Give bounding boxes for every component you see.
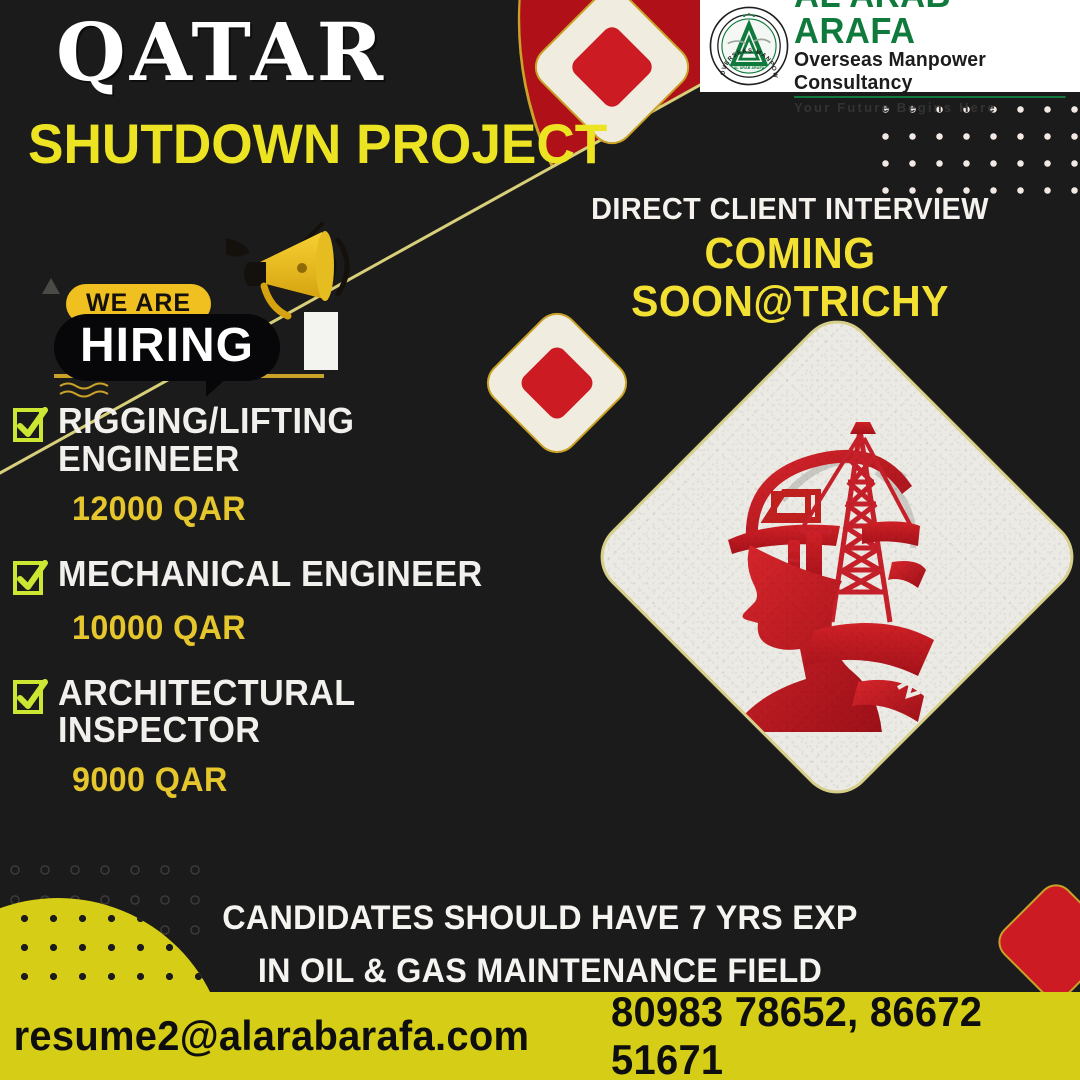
job-salary: 10000 QAR <box>72 609 490 648</box>
list-item: ARCHITECTURAL INSPECTOR 9000 QAR <box>12 674 512 801</box>
job-title: ARCHITECTURAL INSPECTOR <box>58 674 489 750</box>
job-listings: RIGGING/LIFTING ENGINEER 12000 QAR MECHA… <box>12 402 512 826</box>
diamond-inner-red <box>517 343 596 422</box>
job-salary: 12000 QAR <box>72 490 490 529</box>
we-are-hiring-badge: WE ARE HIRING <box>40 222 350 397</box>
contact-email[interactable]: resume2@alarabarafa.com <box>14 1012 530 1060</box>
contact-phones[interactable]: 80983 78652, 86672 51671 <box>611 988 1068 1080</box>
interview-location-label: COMING SOON@TRICHY <box>558 230 1023 327</box>
squiggle-accent-icon <box>58 382 120 398</box>
recruitment-poster: OVERSEAS MANPOWER CONSULTANCY AL ARAB AR… <box>0 0 1080 1080</box>
logo-tagline: Your Future Begins Here <box>794 98 1074 115</box>
page-title-country: QATAR <box>56 12 387 92</box>
page-title-project: SHUTDOWN PROJECT <box>28 116 607 172</box>
megaphone-icon <box>210 222 360 332</box>
job-title: MECHANICAL ENGINEER <box>58 555 483 593</box>
company-logo[interactable]: OVERSEAS MANPOWER CONSULTANCY AL ARAB AR… <box>700 0 1080 92</box>
triangle-accent-icon <box>42 278 60 294</box>
diamond-inner-red <box>568 23 656 111</box>
list-item: RIGGING/LIFTING ENGINEER 12000 QAR <box>12 402 512 529</box>
logo-company-name: AL ARAB ARAFA <box>794 0 1063 49</box>
checkbox-checked-icon <box>12 406 48 444</box>
job-salary: 9000 QAR <box>72 761 490 800</box>
contact-footer: resume2@alarabarafa.com 80983 78652, 866… <box>0 992 1080 1080</box>
list-item: MECHANICAL ENGINEER 10000 QAR <box>12 555 512 648</box>
logo-company-subtitle: Overseas Manpower Consultancy <box>794 49 1066 98</box>
job-title: RIGGING/LIFTING ENGINEER <box>58 402 489 478</box>
checkbox-checked-icon <box>12 678 48 716</box>
interview-announcement: DIRECT CLIENT INTERVIEW COMING SOON@TRIC… <box>540 192 1040 327</box>
company-seal-icon: OVERSEAS MANPOWER CONSULTANCY AL ARAB AR… <box>708 5 790 87</box>
interview-type-label: DIRECT CLIENT INTERVIEW <box>558 192 1023 226</box>
svg-text:AL ARAB ARAFA: AL ARAB ARAFA <box>734 66 765 70</box>
requirement-line-1: CANDIDATES SHOULD HAVE 7 YRS EXP <box>160 892 920 945</box>
checkbox-checked-icon <box>12 559 48 597</box>
requirements-text: CANDIDATES SHOULD HAVE 7 YRS EXP IN OIL … <box>160 892 920 997</box>
